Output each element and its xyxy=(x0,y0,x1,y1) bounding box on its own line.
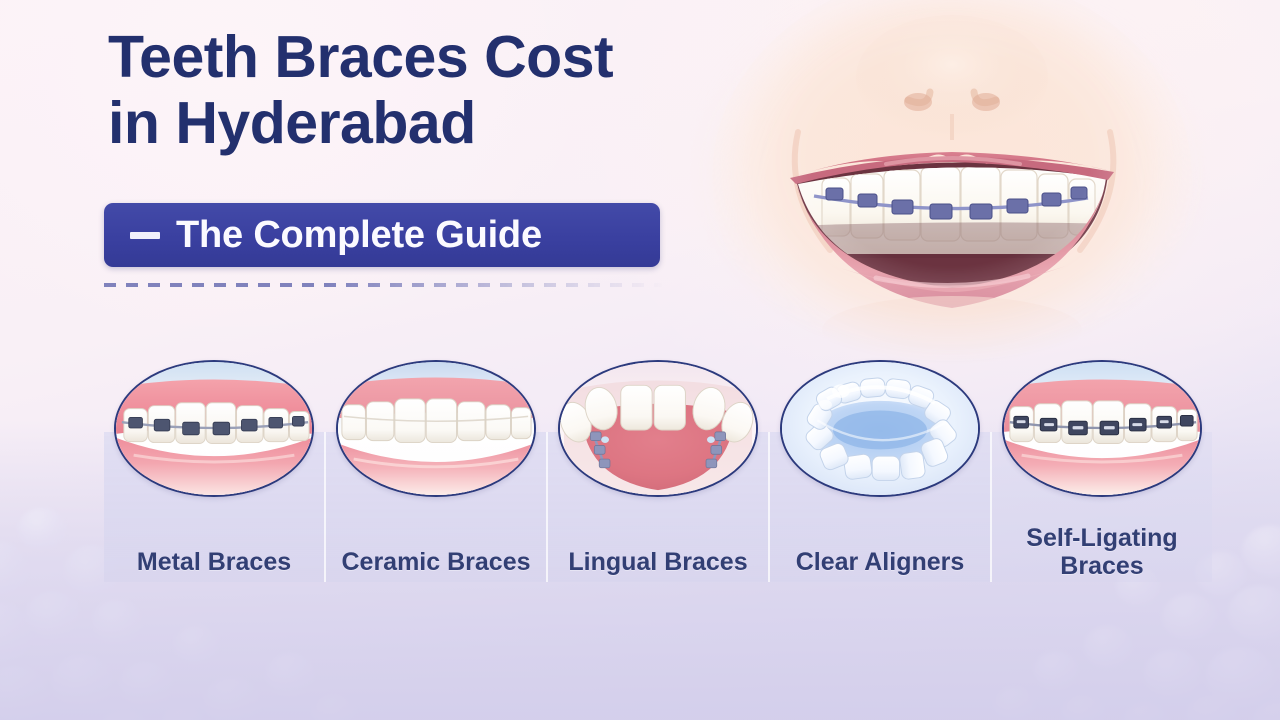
card-metal-braces[interactable]: Metal Braces xyxy=(104,432,326,582)
card-self-ligating-braces[interactable]: Self-Ligating Braces xyxy=(992,432,1212,582)
card-label: Self-Ligating Braces xyxy=(992,524,1212,580)
card-label: Clear Aligners xyxy=(770,548,990,576)
self-ligating-braces-thumbnail-icon xyxy=(1002,360,1202,497)
ceramic-braces-thumbnail-icon xyxy=(336,360,536,497)
braces-types-strip: Metal Braces xyxy=(104,432,1212,582)
card-lingual-braces[interactable]: Lingual Braces xyxy=(548,432,770,582)
card-label: Ceramic Braces xyxy=(326,548,546,576)
dashed-divider xyxy=(104,283,664,287)
metal-braces-thumbnail-icon xyxy=(114,360,314,497)
hero-smile-image xyxy=(690,0,1210,367)
poster-canvas: Teeth Braces Cost in Hyderabad The Compl… xyxy=(0,0,1280,720)
clear-aligner-tray-thumbnail-icon xyxy=(780,360,980,497)
headline-line-1: Teeth Braces Cost xyxy=(108,24,613,90)
card-label: Lingual Braces xyxy=(548,548,768,576)
smiling-mouth-with-metal-braces-icon xyxy=(690,0,1210,367)
card-ceramic-braces[interactable]: Ceramic Braces xyxy=(326,432,548,582)
card-clear-aligners[interactable]: Clear Aligners xyxy=(770,432,992,582)
card-label: Metal Braces xyxy=(104,548,324,576)
page-title: Teeth Braces Cost in Hyderabad xyxy=(108,24,728,156)
subtitle-badge-label: The Complete Guide xyxy=(176,214,542,257)
em-dash-icon xyxy=(130,232,160,239)
headline-line-2: in Hyderabad xyxy=(108,90,728,156)
subtitle-badge: The Complete Guide xyxy=(104,203,660,267)
lingual-braces-thumbnail-icon xyxy=(558,360,758,497)
